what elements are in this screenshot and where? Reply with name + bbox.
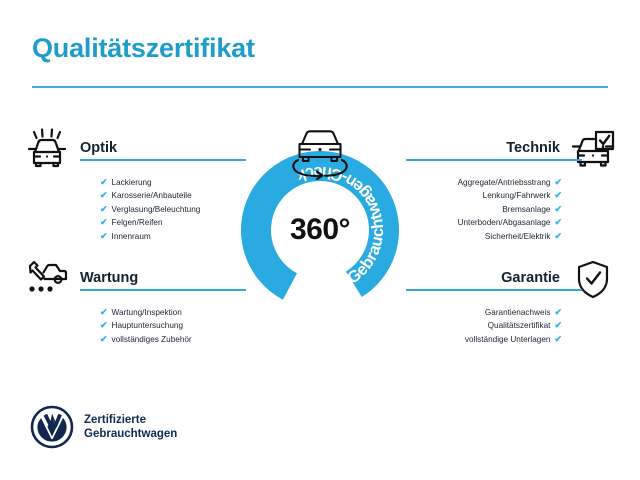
list-item-label: Bremsanlage: [502, 205, 550, 214]
check-icon: ✔: [100, 203, 108, 216]
list-item: Bremsanlage✔: [458, 203, 562, 216]
list-item-label: Wartung/Inspektion: [112, 308, 182, 317]
check-icon: ✔: [554, 306, 562, 319]
certificate-page: Qualitätszertifikat: [0, 0, 640, 480]
list-item: Unterboden/Abgasanlage✔: [458, 216, 562, 229]
section-optik-list: ✔Lackierung ✔Karosserie/Anbauteile ✔Verg…: [100, 176, 200, 243]
section-technik-list: Aggregate/Antriebsstrang✔ Lenkung/Fahrwe…: [458, 176, 562, 243]
list-item-label: Verglasung/Beleuchtung: [112, 205, 201, 214]
list-item-label: vollständiges Zubehör: [112, 335, 192, 344]
list-item-label: Felgen/Reifen: [112, 218, 163, 227]
check-icon: ✔: [100, 230, 108, 243]
vw-footer-line1: Zertifizierte: [84, 413, 177, 428]
list-item-label: Unterboden/Abgasanlage: [458, 218, 551, 227]
check-icon: ✔: [100, 176, 108, 189]
list-item-label: vollständige Unterlagen: [465, 335, 551, 344]
badge-degrees-label: 360°: [236, 213, 404, 247]
list-item: Garantienachweis✔: [465, 306, 562, 319]
vw-footer: Zertifizierte Gebrauchtwagen: [30, 405, 177, 449]
section-optik-divider: [80, 159, 246, 161]
section-technik-title: Technik: [406, 140, 560, 157]
list-item: Sicherheit/Elektrik✔: [458, 230, 562, 243]
list-item: vollständige Unterlagen✔: [465, 333, 562, 346]
check-icon: ✔: [554, 230, 562, 243]
list-item: ✔Verglasung/Beleuchtung: [100, 203, 200, 216]
car-front-shine-icon: [24, 128, 70, 172]
list-item: Qualitätszertifikat✔: [465, 319, 562, 332]
list-item-label: Innenraum: [112, 232, 151, 241]
section-optik-header: Optik: [80, 140, 222, 161]
list-item-label: Qualitätszertifikat: [488, 321, 551, 330]
check-icon: ✔: [100, 333, 108, 346]
list-item-label: Karosserie/Anbauteile: [112, 191, 192, 200]
shield-check-icon: [570, 258, 616, 302]
section-wartung-list: ✔Wartung/Inspektion ✔Hauptuntersuchung ✔…: [100, 306, 192, 346]
section-wartung-title: Wartung: [80, 270, 222, 287]
check-icon: ✔: [100, 319, 108, 332]
section-technik-divider: [406, 159, 582, 161]
section-wartung-header: Wartung: [80, 270, 222, 291]
check-icon: ✔: [554, 189, 562, 202]
list-item-label: Lenkung/Fahrwerk: [483, 191, 551, 200]
list-item: ✔Hauptuntersuchung: [100, 319, 192, 332]
list-item: ✔vollständiges Zubehör: [100, 333, 192, 346]
car-front-checkbox-icon: [570, 128, 616, 172]
list-item: ✔Lackierung: [100, 176, 200, 189]
check-icon: ✔: [100, 216, 108, 229]
wrench-car-service-icon: [24, 258, 70, 302]
section-garantie-list: Garantienachweis✔ Qualitätszertifikat✔ v…: [465, 306, 562, 346]
list-item: Aggregate/Antriebsstrang✔: [458, 176, 562, 189]
car-rotation-360-icon: [280, 124, 360, 180]
check-icon: ✔: [100, 306, 108, 319]
check-icon: ✔: [554, 333, 562, 346]
header-divider: [32, 86, 608, 88]
list-item-label: Lackierung: [112, 178, 152, 187]
section-garantie-title: Garantie: [406, 270, 560, 287]
list-item: ✔Innenraum: [100, 230, 200, 243]
vw-footer-line2: Gebrauchtwagen: [84, 427, 177, 442]
check-icon: ✔: [554, 176, 562, 189]
section-garantie-divider: [406, 289, 582, 291]
check-icon: ✔: [554, 203, 562, 216]
list-item: ✔Felgen/Reifen: [100, 216, 200, 229]
section-optik-title: Optik: [80, 140, 222, 157]
list-item: Lenkung/Fahrwerk✔: [458, 189, 562, 202]
list-item-label: Garantienachweis: [485, 308, 551, 317]
check-icon: ✔: [554, 319, 562, 332]
vw-roundel-logo: [30, 405, 74, 449]
list-item: ✔Wartung/Inspektion: [100, 306, 192, 319]
list-item-label: Sicherheit/Elektrik: [485, 232, 551, 241]
page-title: Qualitätszertifikat: [32, 33, 255, 64]
section-garantie-header: Garantie: [406, 270, 560, 291]
section-wartung-divider: [80, 289, 246, 291]
section-technik-header: Technik: [406, 140, 560, 161]
check-icon: ✔: [100, 189, 108, 202]
check-icon: ✔: [554, 216, 562, 229]
vw-footer-text: Zertifizierte Gebrauchtwagen: [84, 413, 177, 442]
list-item-label: Aggregate/Antriebsstrang: [458, 178, 551, 187]
list-item: ✔Karosserie/Anbauteile: [100, 189, 200, 202]
list-item-label: Hauptuntersuchung: [112, 321, 183, 330]
